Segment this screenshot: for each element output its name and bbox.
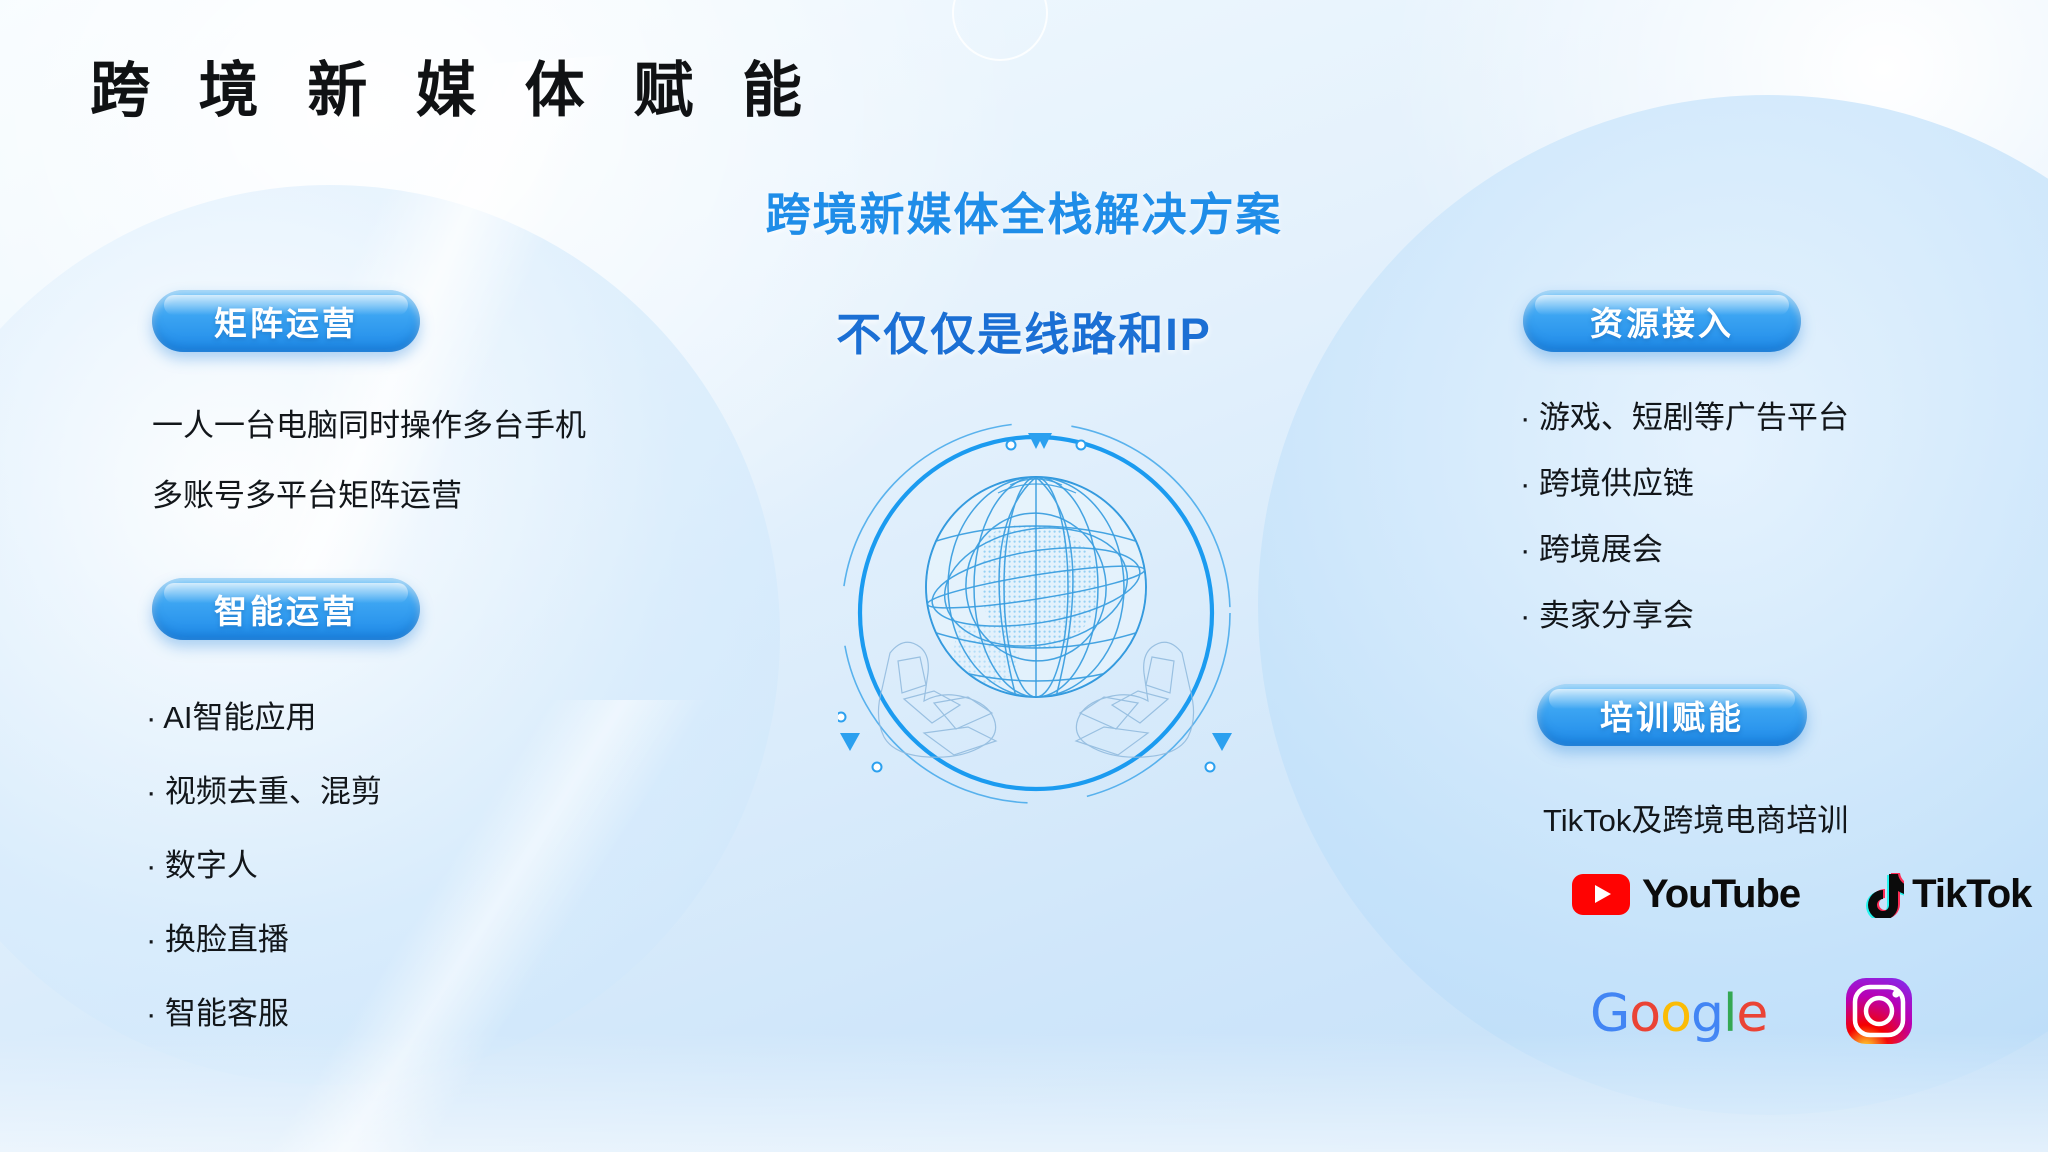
center-heading-block: 跨境新媒体全栈解决方案 不仅仅是线路和IP [574,178,1474,363]
left-bullet-2: · 视频去重、混剪 [146,766,382,811]
tiktok-label: TikTok [1912,872,2031,917]
pill-label: 智能运营 [214,585,358,633]
center-heading-primary: 跨境新媒体全栈解决方案 [574,178,1474,243]
left-text-line-1: 一人一台电脑同时操作多台手机 [152,400,586,445]
globe-graphic [838,415,1234,811]
right-bullet-4: · 卖家分享会 [1520,590,1694,635]
globe-wireframe [925,477,1146,697]
pill-training-empowerment[interactable]: 培训赋能 [1537,684,1807,746]
right-bullet-2: · 跨境供应链 [1520,458,1694,503]
decorative-ring [952,0,1048,61]
page-title: 跨 境 新 媒 体 赋 能 [90,42,818,129]
left-bullet-5: · 智能客服 [146,988,289,1033]
left-bullet-4: · 换脸直播 [146,914,289,959]
youtube-label: YouTube [1642,872,1800,917]
right-text-line-1: TikTok及跨境电商培训 [1543,795,1848,840]
tiktok-note-icon [1860,870,1904,918]
right-bullet-1: · 游戏、短剧等广告平台 [1520,392,1849,437]
pill-intelligent-operations[interactable]: 智能运营 [152,578,420,640]
youtube-logo[interactable]: YouTube [1572,872,1800,917]
youtube-play-icon [1572,874,1630,915]
slide-root: 跨 境 新 媒 体 赋 能 跨境新媒体全栈解决方案 不仅仅是线路和IP [0,0,2048,1152]
center-heading-secondary: 不仅仅是线路和IP [574,298,1474,363]
pill-label: 矩阵运营 [214,297,358,345]
tiktok-logo[interactable]: TikTok [1860,870,2031,918]
pill-matrix-operations[interactable]: 矩阵运营 [152,290,420,352]
pill-resource-access[interactable]: 资源接入 [1523,290,1801,352]
bottom-fade [0,1032,2048,1152]
pill-label: 资源接入 [1590,297,1734,345]
left-bullet-1: · AI智能应用 [146,692,317,737]
logo-row-top: YouTube TikTok [1572,870,2031,918]
right-bullet-3: · 跨境展会 [1520,524,1663,569]
left-text-line-2: 多账号多平台矩阵运营 [152,470,462,515]
left-bullet-3: · 数字人 [146,840,258,885]
pill-label: 培训赋能 [1600,691,1744,739]
